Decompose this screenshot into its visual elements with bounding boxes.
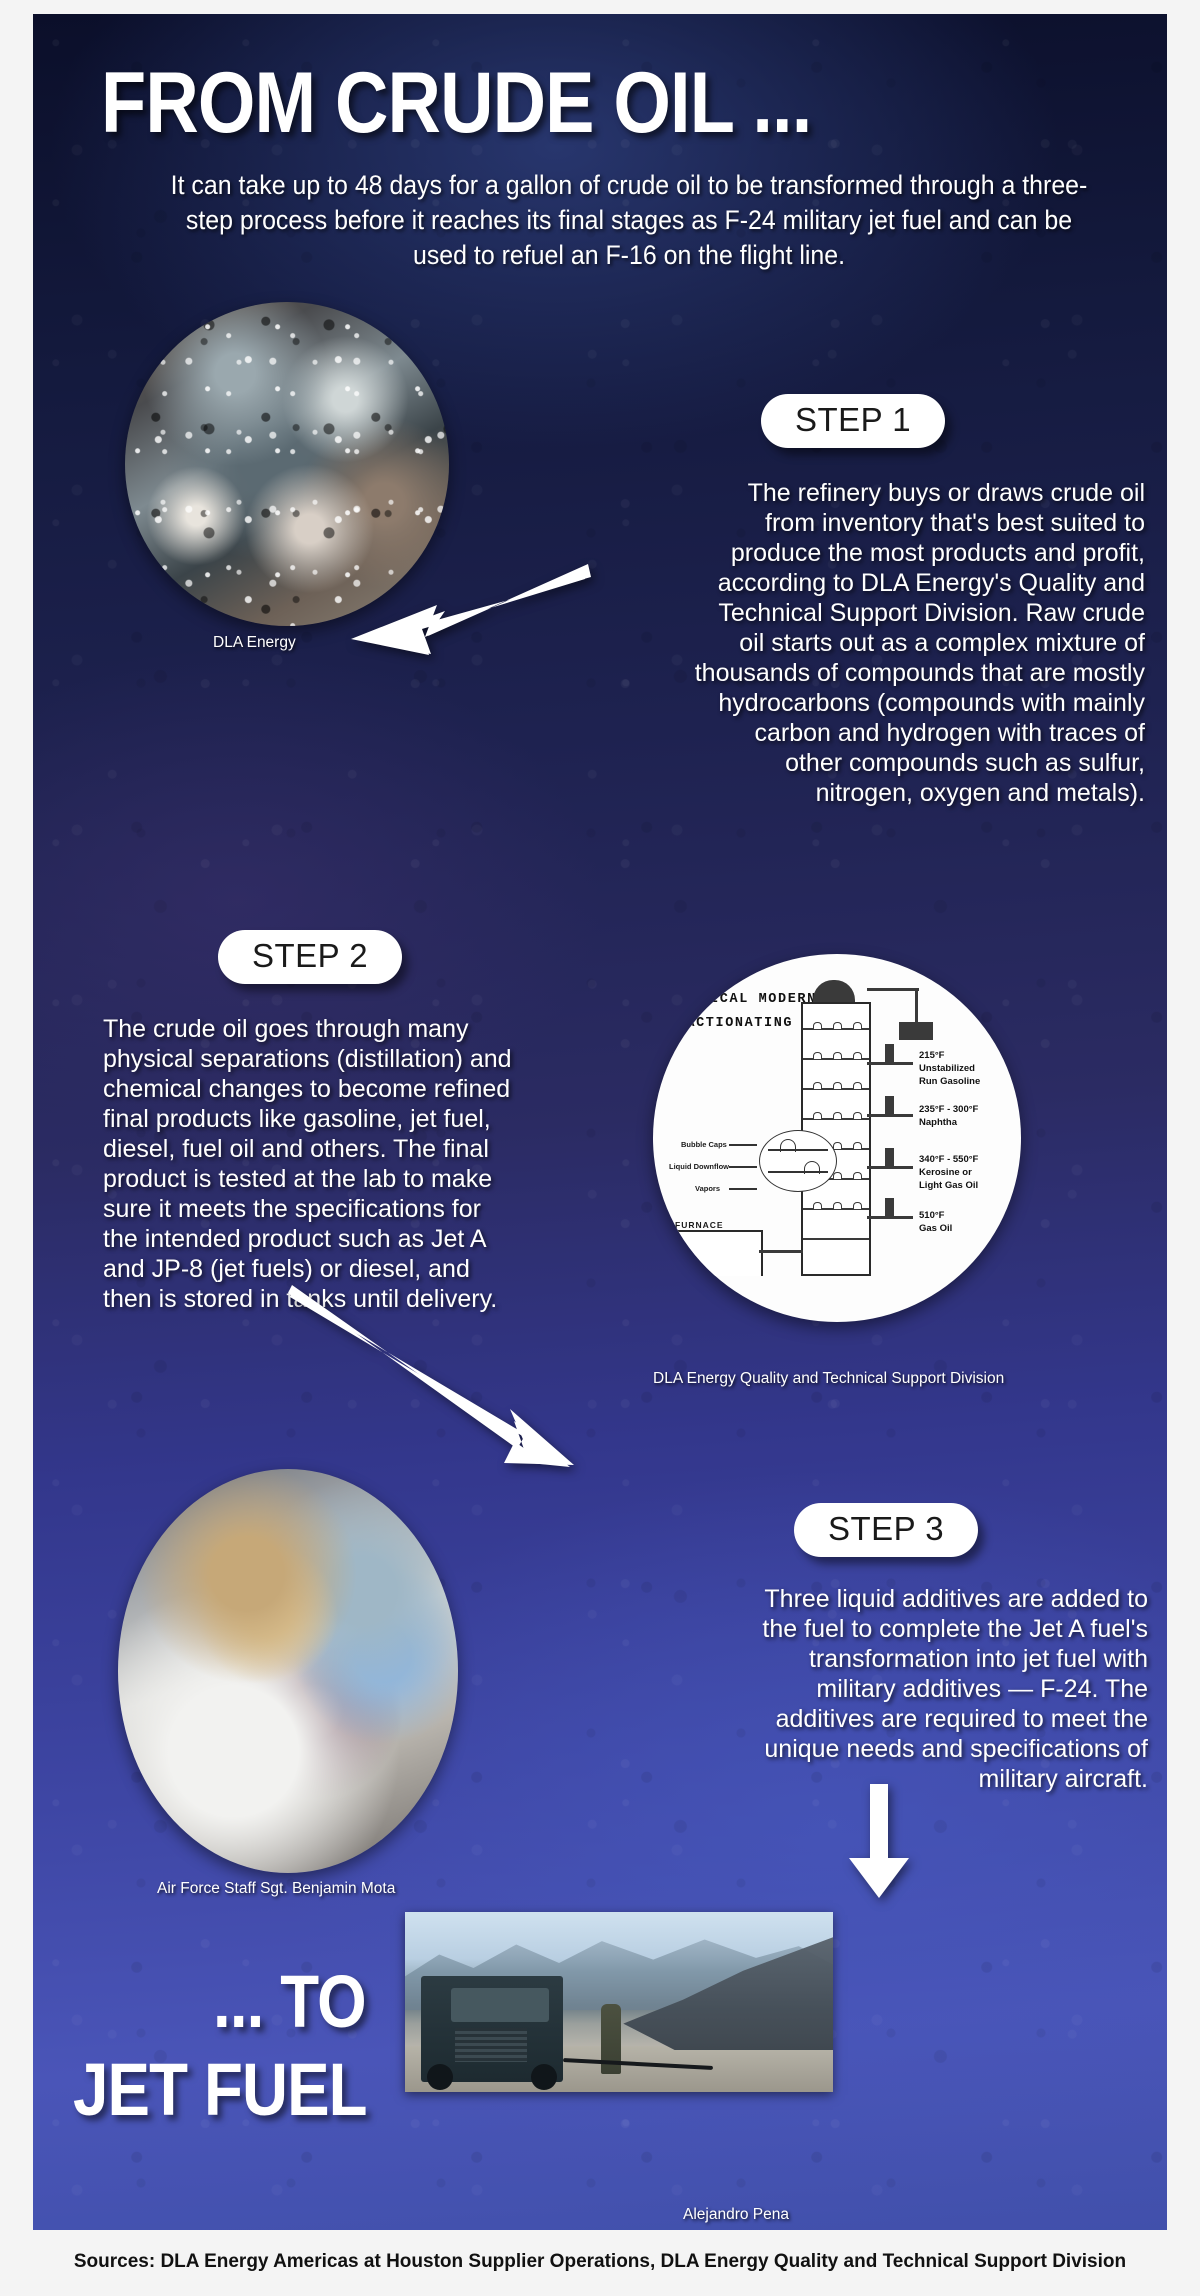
truck-cab xyxy=(451,1988,549,2022)
step-1-text: The refinery buys or draws crude oil fro… xyxy=(693,478,1145,808)
truck-grill xyxy=(455,2028,527,2062)
closing-line-1: ... TO xyxy=(213,1966,366,2039)
truck-wheel-left xyxy=(427,2064,453,2090)
diagram-output-2: 235°F - 300°FNaphtha xyxy=(919,1104,978,1130)
diagram-output-1: 215°FUnstabilizedRun Gasoline xyxy=(919,1050,980,1088)
fractionating-tower-diagram: TYPICAL MODERN FRACTIONATING TOWER xyxy=(653,954,1021,1322)
step-2-text: The crude oil goes through many physical… xyxy=(103,1014,521,1314)
lab-caption: Air Force Staff Sgt. Benjamin Mota xyxy=(157,1880,395,1898)
diagram-output-3: 340°F - 550°FKerosine orLight Gas Oil xyxy=(919,1154,978,1192)
diagram-label-vapors: Vapors xyxy=(695,1184,720,1193)
page-subtitle: It can take up to 48 days for a gallon o… xyxy=(159,168,1099,273)
diagram-label-furnace: FURNACE xyxy=(675,1220,724,1230)
tower-diagram-drawing: TYPICAL MODERN FRACTIONATING TOWER xyxy=(653,954,1021,1322)
sources-footer: Sources: DLA Energy Americas at Houston … xyxy=(33,2243,1167,2281)
infographic-page: FROM CRUDE OIL ... It can take up to 48 … xyxy=(0,0,1200,2296)
tower-caption: DLA Energy Quality and Technical Support… xyxy=(653,1370,1004,1388)
lab-technician-photo xyxy=(118,1469,458,1873)
truck-wheel-right xyxy=(531,2064,557,2090)
crude-oil-caption: DLA Energy xyxy=(213,634,296,652)
fuel-truck xyxy=(421,1976,563,2082)
step-1-badge: STEP 1 xyxy=(761,394,945,448)
arrow-step3-down xyxy=(843,1784,915,1900)
arrow-step2-to-step3 xyxy=(288,1279,578,1489)
page-title: FROM CRUDE OIL ... xyxy=(101,60,961,146)
diagram-label-liquid-downflow: Liquid Downflow xyxy=(669,1162,729,1171)
diagram-output-4: 510°FGas Oil xyxy=(919,1210,952,1236)
diagram-label-bubble-caps: Bubble Caps xyxy=(681,1140,727,1149)
poster-panel: FROM CRUDE OIL ... It can take up to 48 … xyxy=(33,14,1167,2230)
tower-detail-inset xyxy=(759,1130,837,1192)
step-3-text: Three liquid additives are added to the … xyxy=(743,1584,1148,1794)
closing-line-2: JET FUEL xyxy=(73,2054,367,2127)
step-2-badge: STEP 2 xyxy=(218,930,402,984)
diagram-furnace xyxy=(673,1230,763,1276)
refueling-photo xyxy=(405,1912,833,2092)
diagram-title-line1: TYPICAL MODERN xyxy=(681,992,817,1007)
step-3-badge: STEP 3 xyxy=(794,1503,978,1557)
arrow-step1-to-step2 xyxy=(333,559,593,669)
refuel-caption: Alejandro Pena xyxy=(683,2206,789,2224)
